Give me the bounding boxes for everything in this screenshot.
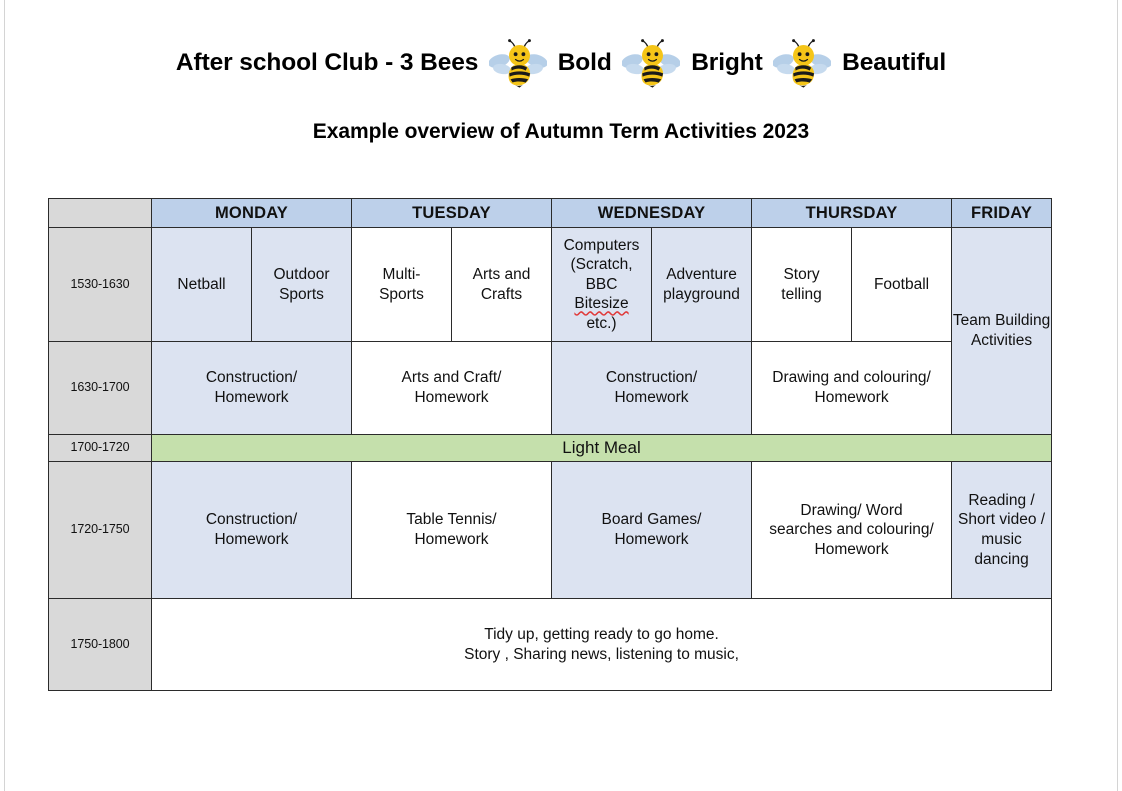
cell-thursday-drawing-word-searches-homework: Drawing/ Word searches and colouring/ Ho…	[752, 462, 952, 599]
title-part-club: After school Club - 3 Bees	[176, 49, 478, 76]
day-header-monday: MONDAY	[152, 199, 352, 228]
cell-wednesday-construction-homework: Construction/ Homework	[552, 342, 752, 435]
cell-tidy-up-home-time: Tidy up, getting ready to go home. Story…	[152, 599, 1052, 691]
misspelled-word-bitesize: Bitesize	[552, 294, 651, 314]
document-canvas: After school Club - 3 Bees	[0, 0, 1122, 791]
table-row: 1630-1700 Construction/ Homework Arts an…	[49, 342, 1052, 435]
time-label-1630-1700: 1630-1700	[49, 342, 152, 435]
time-label-1530-1630: 1530-1630	[49, 228, 152, 342]
cell-monday-construction-homework: Construction/ Homework	[152, 342, 352, 435]
table-row: 1700-1720 Light Meal	[49, 435, 1052, 462]
bee-icon	[489, 38, 547, 88]
header-corner	[49, 199, 152, 228]
time-label-1750-1800: 1750-1800	[49, 599, 152, 691]
activities-timetable: MONDAY TUESDAY WEDNESDAY THURSDAY FRIDAY…	[48, 198, 1052, 691]
cell-monday-construction-homework-late: Construction/ Homework	[152, 462, 352, 599]
table-row: 1530-1630 Netball Outdoor Sports Multi- …	[49, 228, 1052, 342]
day-header-friday: FRIDAY	[952, 199, 1052, 228]
table-row: 1720-1750 Construction/ Homework Table T…	[49, 462, 1052, 599]
cell-wednesday-adventure-playground: Adventure playground	[652, 228, 752, 342]
page-title: After school Club - 3 Bees	[0, 38, 1122, 88]
title-part-bright: Bright	[691, 49, 763, 76]
cell-tuesday-arts-and-crafts: Arts and Crafts	[452, 228, 552, 342]
bee-icon	[622, 38, 680, 88]
cell-wednesday-computers: Computers (Scratch, BBC Bitesize etc.)	[552, 228, 652, 342]
bee-icon	[773, 38, 831, 88]
day-header-thursday: THURSDAY	[752, 199, 952, 228]
table-row: 1750-1800 Tidy up, getting ready to go h…	[49, 599, 1052, 691]
title-part-bold: Bold	[558, 49, 612, 76]
day-header-wednesday: WEDNESDAY	[552, 199, 752, 228]
day-header-tuesday: TUESDAY	[352, 199, 552, 228]
cell-monday-outdoor-sports: Outdoor Sports	[252, 228, 352, 342]
cell-tuesday-arts-craft-homework: Arts and Craft/ Homework	[352, 342, 552, 435]
cell-thursday-drawing-colouring-homework: Drawing and colouring/ Homework	[752, 342, 952, 435]
timetable-container: MONDAY TUESDAY WEDNESDAY THURSDAY FRIDAY…	[48, 198, 1051, 691]
cell-friday-team-building: Team Building Activities	[952, 228, 1052, 435]
cell-wednesday-board-games-homework: Board Games/ Homework	[552, 462, 752, 599]
cell-monday-netball: Netball	[152, 228, 252, 342]
cell-friday-reading-video-music: Reading / Short video / music dancing	[952, 462, 1052, 599]
cell-tuesday-multi-sports: Multi- Sports	[352, 228, 452, 342]
time-label-1720-1750: 1720-1750	[49, 462, 152, 599]
cell-tuesday-table-tennis-homework: Table Tennis/ Homework	[352, 462, 552, 599]
cell-light-meal: Light Meal	[152, 435, 1052, 462]
cell-thursday-football: Football	[852, 228, 952, 342]
title-part-beautiful: Beautiful	[842, 49, 946, 76]
table-header-row: MONDAY TUESDAY WEDNESDAY THURSDAY FRIDAY	[49, 199, 1052, 228]
page-subtitle: Example overview of Autumn Term Activiti…	[0, 120, 1122, 144]
cell-thursday-story-telling: Story telling	[752, 228, 852, 342]
time-label-1700-1720: 1700-1720	[49, 435, 152, 462]
